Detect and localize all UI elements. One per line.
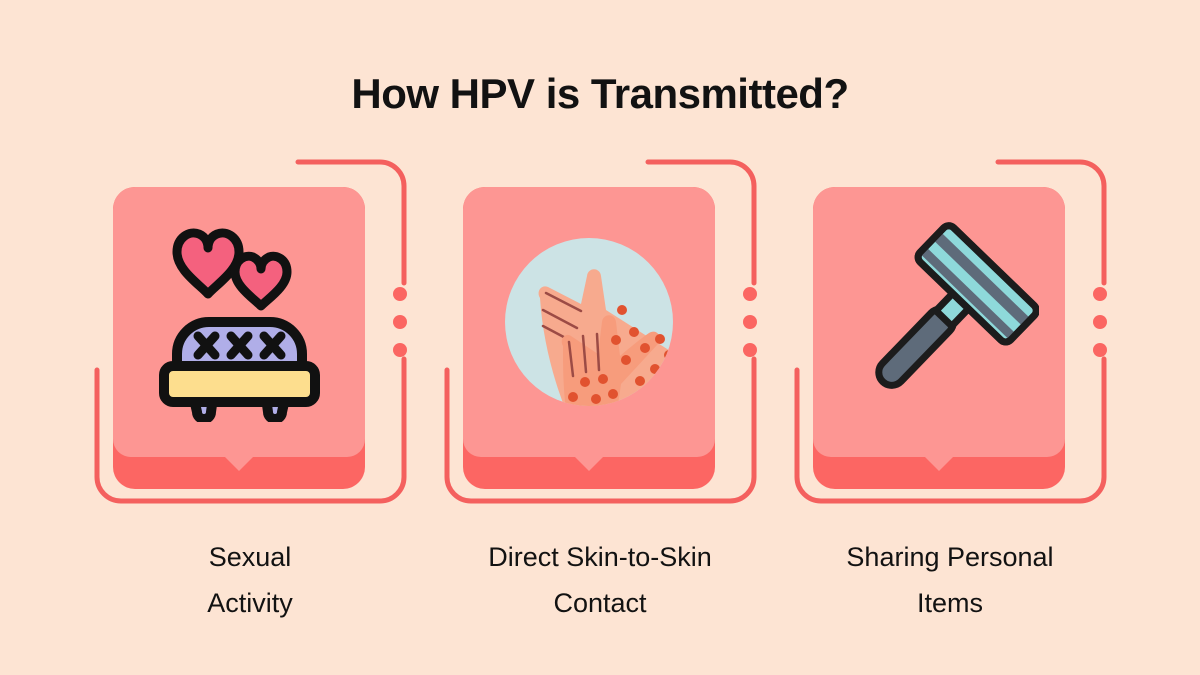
- dots-group: [743, 287, 757, 357]
- dot-3: [1093, 343, 1107, 357]
- card-label-line2: Activity: [80, 581, 420, 627]
- card-label: Sexual Activity: [80, 535, 420, 627]
- dot-1: [393, 287, 407, 301]
- card-label-line1: Sexual: [80, 535, 420, 581]
- dot-2: [1093, 315, 1107, 329]
- card-label-line1: Sharing Personal: [780, 535, 1120, 581]
- dots-group: [393, 287, 407, 357]
- card-label: Direct Skin-to-Skin Contact: [430, 535, 770, 627]
- transmission-card-skin-to-skin[interactable]: Direct Skin-to-Skin Contact: [430, 155, 770, 625]
- dot-1: [743, 287, 757, 301]
- transmission-card-sexual-activity[interactable]: Sexual Activity: [80, 155, 420, 625]
- dot-2: [393, 315, 407, 329]
- card-label-line1: Direct Skin-to-Skin: [430, 535, 770, 581]
- card-panel[interactable]: [463, 187, 715, 489]
- card-label-line2: Contact: [430, 581, 770, 627]
- bed-with-hearts-icon: [113, 187, 365, 457]
- razor-icon: [813, 187, 1065, 457]
- dot-1: [1093, 287, 1107, 301]
- card-panel[interactable]: [813, 187, 1065, 489]
- hpv-transmission-infographic: How HPV is Transmitted?: [0, 0, 1200, 675]
- dot-2: [743, 315, 757, 329]
- card-label: Sharing Personal Items: [780, 535, 1120, 627]
- dots-group: [1093, 287, 1107, 357]
- hands-with-rash-icon: [463, 187, 715, 457]
- page-title: How HPV is Transmitted?: [0, 70, 1200, 118]
- dot-3: [393, 343, 407, 357]
- card-label-line2: Items: [780, 581, 1120, 627]
- transmission-card-sharing-items[interactable]: Sharing Personal Items: [780, 155, 1120, 625]
- card-panel[interactable]: [113, 187, 365, 489]
- dot-3: [743, 343, 757, 357]
